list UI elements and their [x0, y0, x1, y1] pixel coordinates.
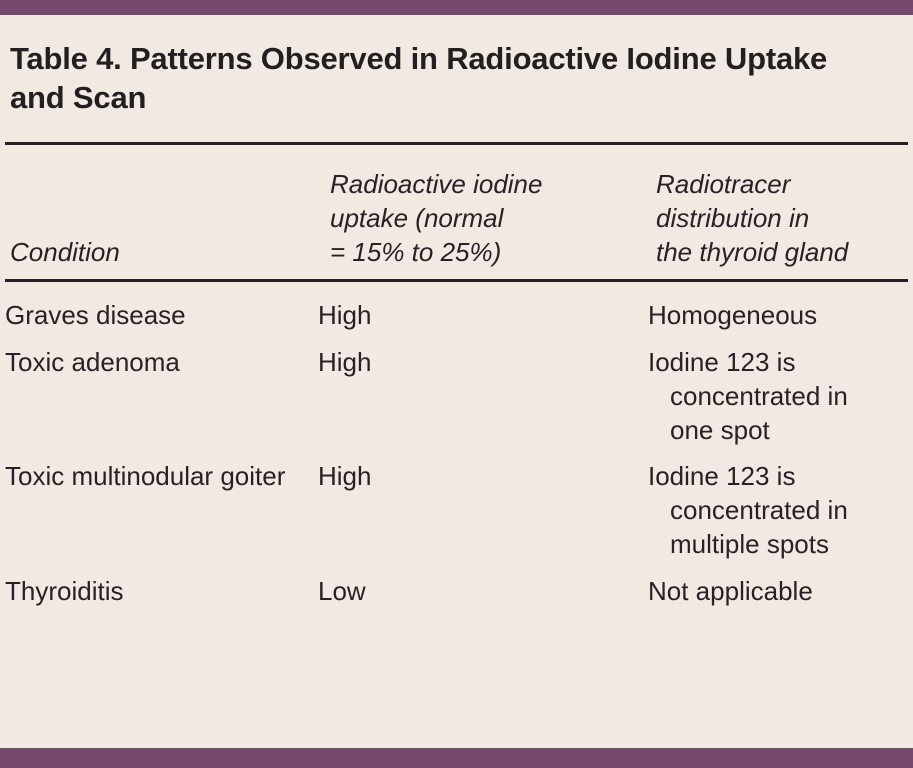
column-header-distribution: Radiotracer distribution in the thyroid …	[648, 145, 908, 279]
cell-distribution-text: Iodine 123 is concentrated in multiple s…	[648, 460, 890, 561]
table-figure: Table 4. Patterns Observed in Radioactiv…	[0, 0, 913, 768]
cell-condition: Graves disease	[5, 282, 318, 333]
cell-condition-text: Toxic multinodular goiter	[5, 460, 300, 494]
table-row: Thyroiditis Low Not applicable	[5, 562, 908, 609]
cell-condition: Thyroiditis	[5, 562, 318, 609]
cell-distribution: Iodine 123 is concentrated in one spot	[648, 333, 908, 447]
figure-body: Table 4. Patterns Observed in Radioactiv…	[0, 15, 913, 748]
column-header-uptake-line1: Radioactive iodine	[330, 169, 542, 199]
table-row: Toxic adenoma High Iodine 123 is concent…	[5, 333, 908, 447]
column-header-uptake: Radioactive iodine uptake (normal = 15% …	[318, 145, 648, 279]
table-row: Toxic multinodular goiter High Iodine 12…	[5, 447, 908, 561]
bottom-accent-band	[0, 748, 913, 768]
cell-uptake: High	[318, 282, 648, 333]
column-header-condition: Condition	[5, 145, 318, 279]
column-header-uptake-line3: = 15% to 25%)	[330, 237, 501, 267]
column-header-condition-label: Condition	[10, 237, 120, 267]
table-row: Graves disease High Homogeneous	[5, 282, 908, 333]
column-header-distribution-line3: the thyroid gland	[656, 237, 848, 267]
cell-uptake: Low	[318, 562, 648, 609]
cell-distribution-text: Iodine 123 is concentrated in one spot	[648, 346, 890, 447]
cell-distribution: Not applicable	[648, 562, 908, 609]
cell-uptake: High	[318, 333, 648, 447]
data-table: Condition Radioactive iodine uptake (nor…	[5, 145, 908, 279]
table-title: Table 4. Patterns Observed in Radioactiv…	[5, 15, 908, 117]
cell-distribution: Homogeneous	[648, 282, 908, 333]
cell-condition: Toxic multinodular goiter	[5, 447, 318, 561]
cell-uptake: High	[318, 447, 648, 561]
top-accent-band	[0, 0, 913, 15]
table-body: Graves disease High Homogeneous Toxic ad…	[5, 282, 908, 608]
cell-distribution-text: Homogeneous	[648, 299, 890, 333]
column-header-distribution-line2: distribution in	[656, 203, 809, 233]
cell-condition-text: Thyroiditis	[5, 575, 300, 609]
cell-distribution: Iodine 123 is concentrated in multiple s…	[648, 447, 908, 561]
cell-condition-text: Graves disease	[5, 299, 300, 333]
table-header: Condition Radioactive iodine uptake (nor…	[5, 145, 908, 279]
column-header-uptake-line2: uptake (normal	[330, 203, 503, 233]
column-header-distribution-line1: Radiotracer	[656, 169, 790, 199]
table-header-row: Condition Radioactive iodine uptake (nor…	[5, 145, 908, 279]
data-table-body: Graves disease High Homogeneous Toxic ad…	[5, 282, 908, 608]
cell-condition-text: Toxic adenoma	[5, 346, 300, 380]
cell-condition: Toxic adenoma	[5, 333, 318, 447]
cell-distribution-text: Not applicable	[648, 575, 890, 609]
